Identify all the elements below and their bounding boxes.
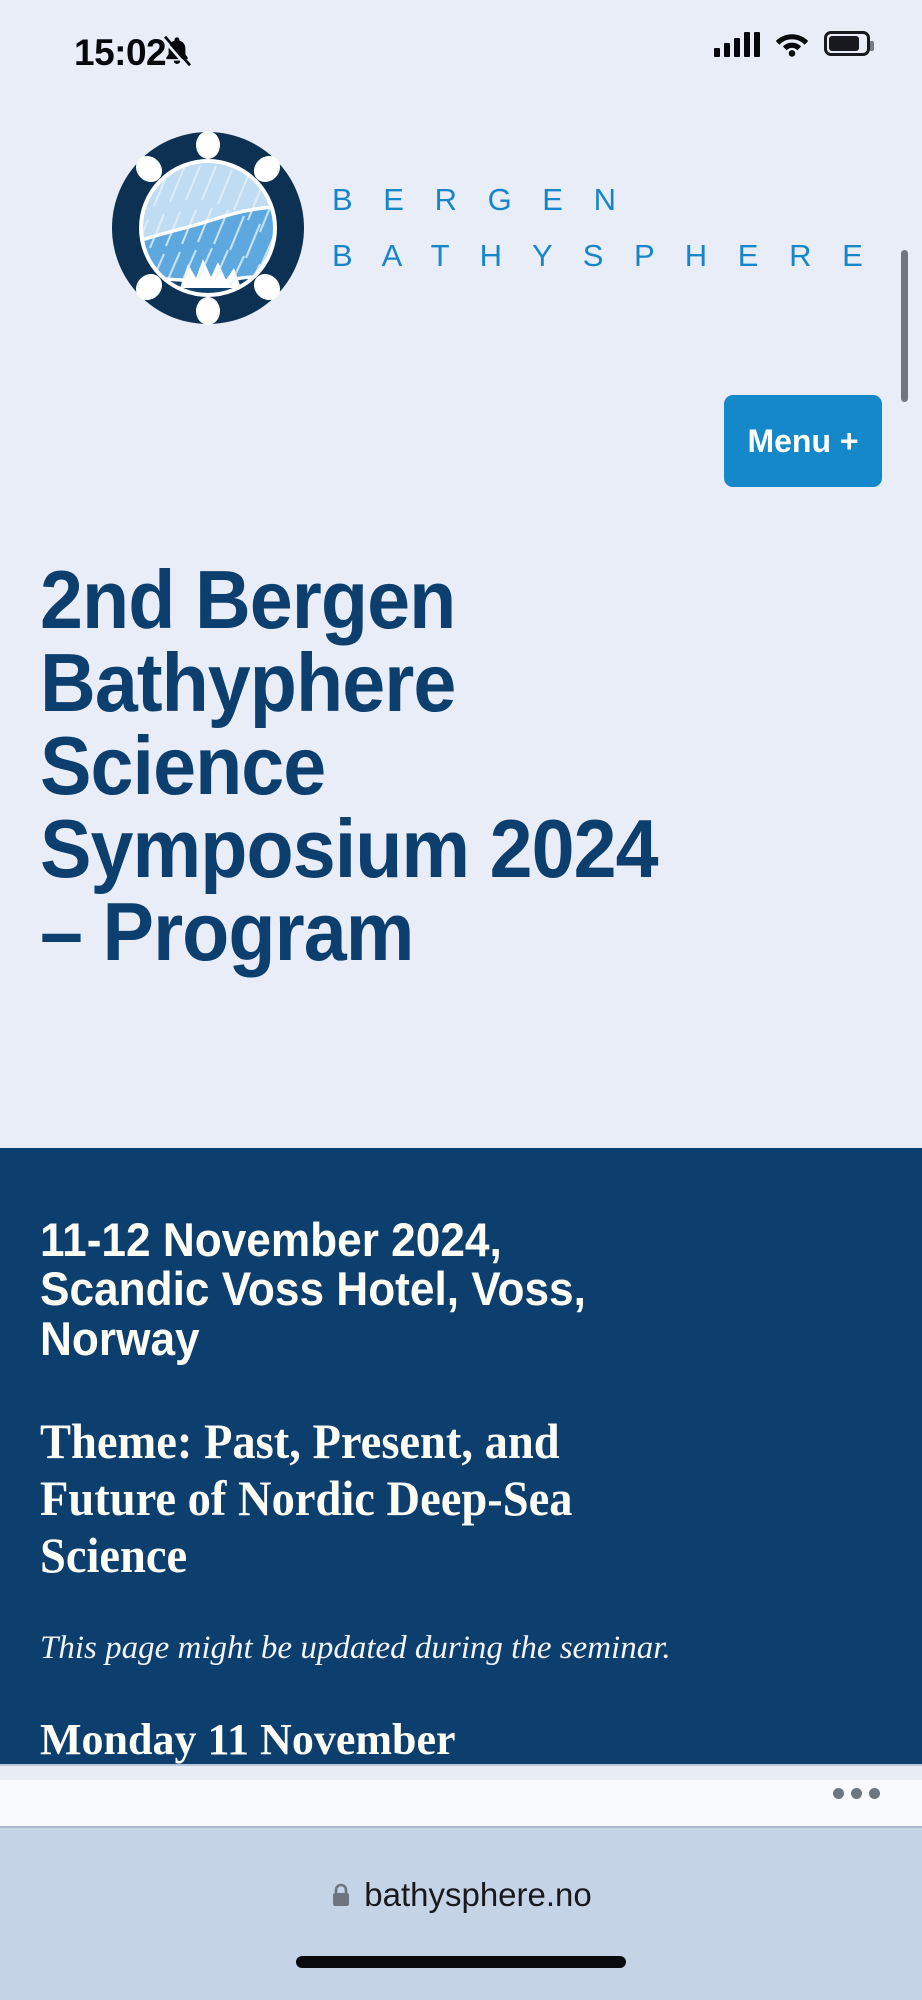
event-location: 11-12 November 2024, Scandic Voss Hotel,… xyxy=(40,1215,642,1363)
page-scrollbar[interactable] xyxy=(904,100,916,1750)
status-bar: 15:02 xyxy=(0,0,922,100)
url-text: bathysphere.no xyxy=(364,1876,592,1914)
more-options-icon[interactable] xyxy=(833,1788,880,1799)
bell-muted-icon xyxy=(160,34,194,68)
day-heading-monday: Monday 11 November xyxy=(40,1714,456,1765)
brand-wordmark: B E R G E N B A T H Y S P H E R E xyxy=(332,172,874,284)
battery-icon xyxy=(824,31,870,56)
home-indicator[interactable] xyxy=(296,1956,626,1968)
menu-button[interactable]: Menu + xyxy=(724,395,882,487)
bathysphere-porthole-logo xyxy=(108,128,308,328)
scrollbar-thumb[interactable] xyxy=(901,250,908,402)
lock-icon xyxy=(330,1882,352,1908)
site-header: B E R G E N B A T H Y S P H E R E Menu +… xyxy=(0,100,922,1148)
page-title: 2nd Bergen Bathyphere Science Symposium … xyxy=(40,558,691,973)
brand-line-2: B A T H Y S P H E R E xyxy=(332,228,874,284)
cellular-signal-icon xyxy=(714,31,760,57)
status-icons xyxy=(714,30,870,57)
site-brand[interactable]: B E R G E N B A T H Y S P H E R E xyxy=(108,128,874,328)
status-clock: 15:02 xyxy=(74,32,166,74)
event-info-band: 11-12 November 2024, Scandic Voss Hotel,… xyxy=(0,1148,922,1780)
event-theme: Theme: Past, Present, and Future of Nord… xyxy=(40,1413,640,1584)
brand-line-1: B E R G E N xyxy=(332,172,874,228)
browser-bottom-bar: bathysphere.no xyxy=(0,1828,922,2000)
address-bar[interactable]: bathysphere.no xyxy=(0,1876,922,1914)
wifi-icon xyxy=(774,30,810,57)
battery-level xyxy=(829,36,859,51)
browser-toolbar xyxy=(0,1764,922,1828)
update-note: This page might be updated during the se… xyxy=(40,1628,720,1669)
phone-screen: 15:02 xyxy=(0,0,922,2000)
